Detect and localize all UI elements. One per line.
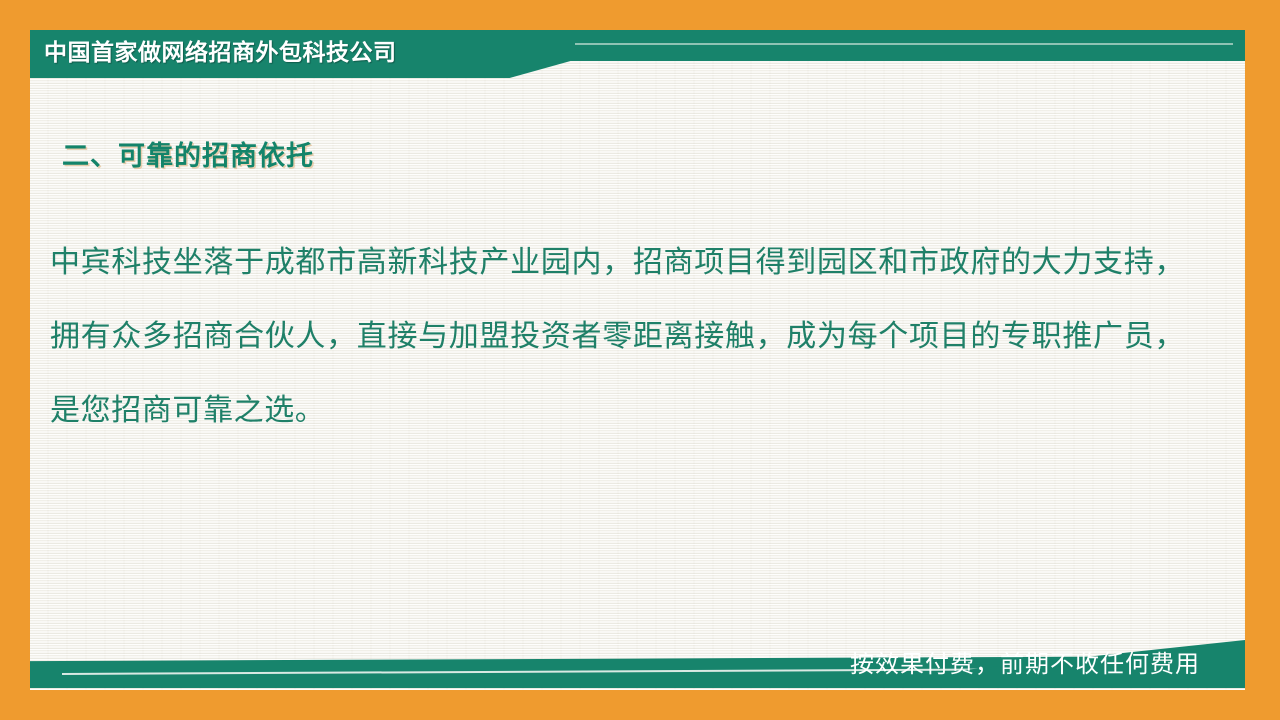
section-heading: 二、可靠的招商依托 bbox=[62, 134, 314, 173]
footer-orange-band bbox=[0, 690, 1280, 720]
presentation-slide: 中国首家做网络招商外包科技公司 二、可靠的招商依托 中宾科技坐落于成都市高新科技… bbox=[0, 0, 1280, 720]
section-paragraph: 中宾科技坐落于成都市高新科技产业园内，招商项目得到园区和市政府的大力支持，拥有众… bbox=[50, 226, 1185, 448]
